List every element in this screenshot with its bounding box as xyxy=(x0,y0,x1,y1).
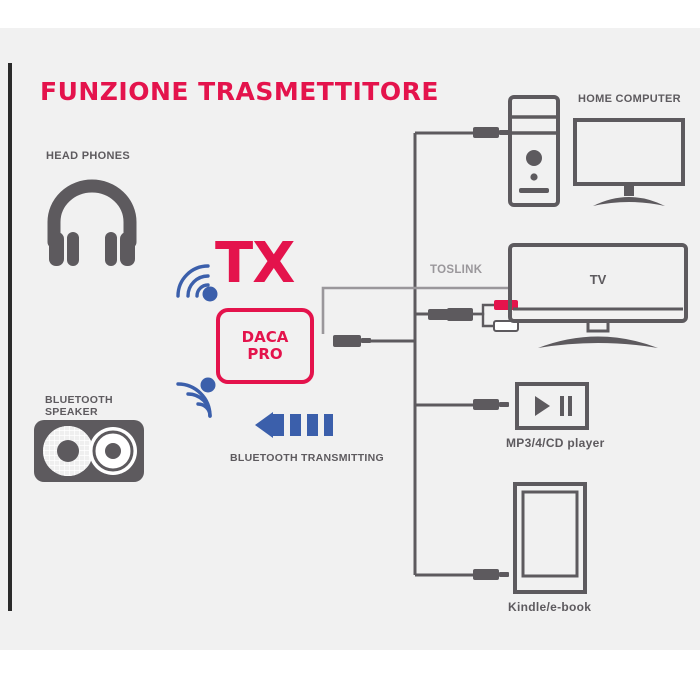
diagram-canvas: FUNZIONE TRASMETTITORE HEAD PHONES BLUET… xyxy=(0,0,700,700)
tv-icon xyxy=(508,243,688,353)
tv-label: TV xyxy=(508,272,688,287)
mp3-player-icon xyxy=(515,382,589,430)
home-computer-label: HOME COMPUTER xyxy=(578,93,681,106)
jack-plug-mp3 xyxy=(473,399,509,410)
pc-monitor-icon xyxy=(573,118,685,208)
pc-tower-icon xyxy=(508,95,560,207)
play-icon xyxy=(535,396,550,416)
jack-plug-device-out xyxy=(333,335,371,347)
mp3-player-label: MP3/4/CD player xyxy=(506,437,605,451)
jack-plug-kindle xyxy=(473,569,509,580)
rca-connector-group xyxy=(428,300,518,331)
kindle-icon xyxy=(513,482,587,594)
pause-icon xyxy=(560,396,564,416)
toslink-cable-label: TOSLINK xyxy=(430,264,482,277)
kindle-label: Kindle/e-book xyxy=(508,601,591,615)
jack-plug-computer xyxy=(473,127,509,138)
